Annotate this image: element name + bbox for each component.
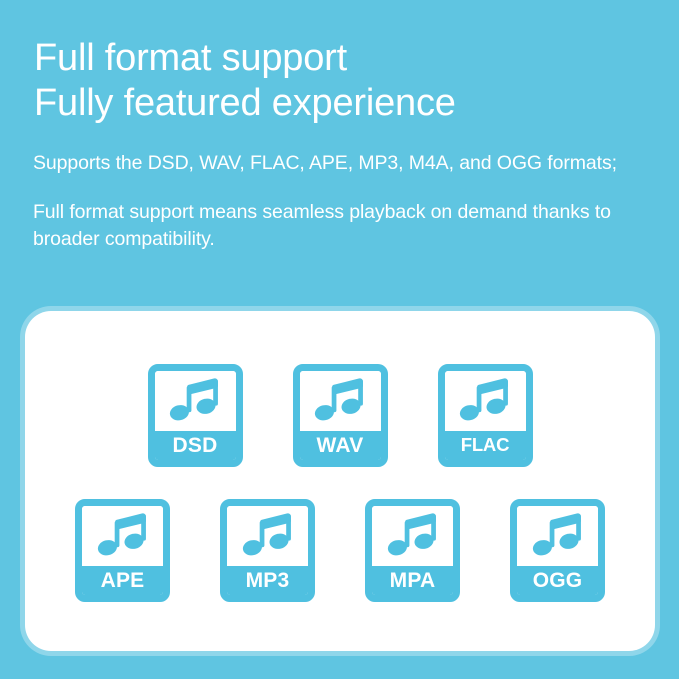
format-icon-ogg[interactable]: OGG [510,499,605,602]
headline-line-2: Fully featured experience [34,81,654,126]
music-note-icon [300,371,381,431]
format-grid: DSD WAV [25,311,655,651]
format-label: WAV [300,431,381,460]
music-note-icon [227,506,308,566]
format-icon-ape[interactable]: APE [75,499,170,602]
body-copy: Supports the DSD, WAV, FLAC, APE, MP3, M… [33,150,651,253]
format-icon-mp3[interactable]: MP3 [220,499,315,602]
format-icon-mpa[interactable]: MPA [365,499,460,602]
format-label: APE [82,566,163,595]
format-label: OGG [517,566,598,595]
format-card: DSD WAV [25,311,655,651]
format-row-1: DSD WAV [25,364,655,467]
header: Full format support Fully featured exper… [34,36,654,126]
promo-banner: Full format support Fully featured exper… [0,0,679,679]
music-note-icon [82,506,163,566]
format-label: MP3 [227,566,308,595]
music-note-icon [372,506,453,566]
format-icon-wav[interactable]: WAV [293,364,388,467]
format-label: DSD [155,431,236,460]
body-paragraph-2: Full format support means seamless playb… [33,199,651,253]
format-icon-dsd[interactable]: DSD [148,364,243,467]
format-label: MPA [372,566,453,595]
music-note-icon [155,371,236,431]
headline-line-1: Full format support [34,36,654,81]
music-note-icon [517,506,598,566]
music-note-icon [445,371,526,431]
format-label: FLAC [445,431,526,460]
format-icon-flac[interactable]: FLAC [438,364,533,467]
format-row-2: APE MP3 [25,499,655,602]
body-paragraph-1: Supports the DSD, WAV, FLAC, APE, MP3, M… [33,150,651,177]
